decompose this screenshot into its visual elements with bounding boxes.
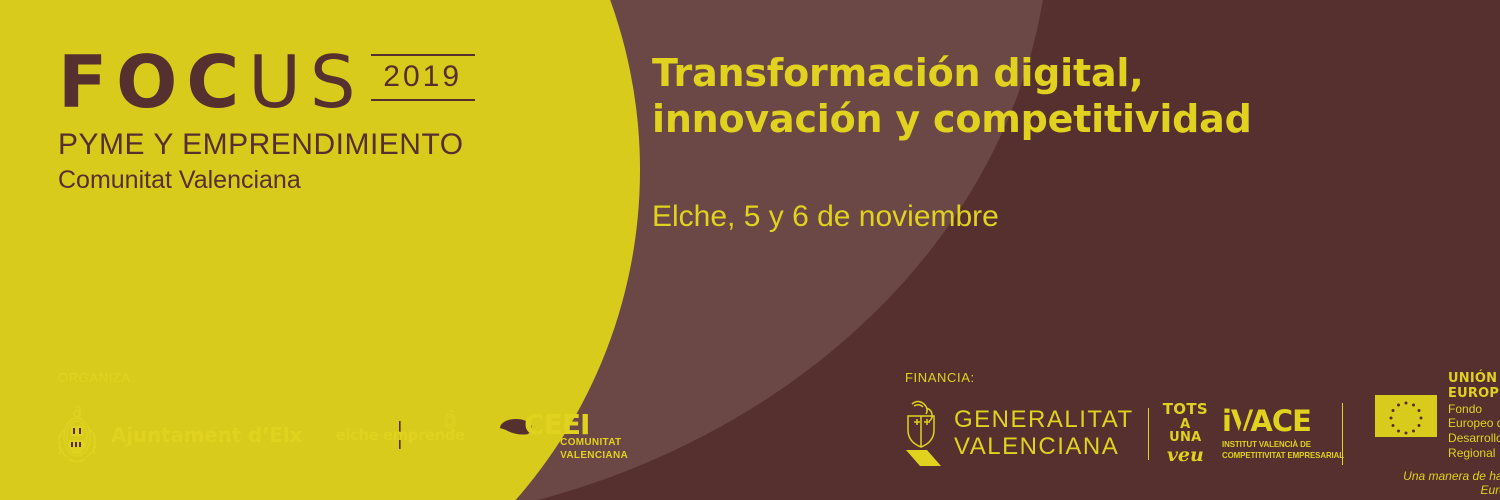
eu-subtitle-line-1: Fondo Europeo de: [1448, 402, 1500, 431]
ivace-subtitle-line-1: INSTITUT VALENCIÀ DE: [1222, 439, 1319, 450]
financia-logo-strip: GENERALITAT VALENCIANA TOTS A UNA veu iV…: [900, 398, 1500, 470]
organiza-logo-strip: Ajuntament d’Elx elche emprende: [55, 400, 626, 470]
tots-line-1: TOTS: [1163, 402, 1208, 418]
logo-wordmark-row: FOCUS 2019: [58, 48, 528, 116]
logo-year: 2019: [371, 56, 475, 99]
eu-text-block: UNIÓN EUROPEA Fondo Europeo de Desarroll…: [1448, 371, 1500, 461]
ajuntament-elx-logo: Ajuntament d’Elx: [55, 404, 302, 466]
eu-motto: Una manera de hacer Europa: [1375, 469, 1500, 497]
ceei-subtitle-line-2: VALENCIANA: [560, 450, 628, 463]
eu-subtitle-line-2: Desarrollo Regional: [1448, 431, 1500, 460]
ceei-subtitle-line-1: COMUNITAT: [560, 437, 628, 450]
eu-logo-row: UNIÓN EUROPEA Fondo Europeo de Desarroll…: [1375, 371, 1500, 461]
financia-label: FINANCIA:: [905, 370, 975, 385]
logo-subtitle-secondary: Comunitat Valenciana: [58, 165, 528, 195]
event-date-location: Elche, 5 y 6 de noviembre: [652, 200, 999, 234]
elx-crest-icon: [55, 404, 99, 466]
focus-pyme-logo: FOCUS 2019 PYME Y EMPRENDIMIENTO Comunit…: [58, 48, 528, 195]
event-headline: Transformación digital, innovación y com…: [652, 50, 1252, 143]
logo-wordmark: FOCUS: [58, 48, 365, 116]
ivace-wordmark-text: iVACE: [1222, 404, 1311, 438]
headline-line-2: innovación y competitividad: [652, 96, 1252, 142]
eu-flag-icon: [1375, 395, 1437, 437]
union-europea-logo: UNIÓN EUROPEA Fondo Europeo de Desarroll…: [1375, 371, 1500, 498]
ivace-logo: iVACE INSTITUT VALENCIÀ DE COMPETITIVITA…: [1222, 407, 1326, 461]
logo-subtitle-primary: PYME Y EMPRENDIMIENTO: [58, 128, 528, 163]
gva-wordmark: GENERALITAT VALENCIANA: [954, 407, 1134, 461]
ivace-subtitle: INSTITUT VALENCIÀ DE COMPETITIVITAT EMPR…: [1222, 439, 1319, 461]
logo-word-bold: FOC: [58, 40, 248, 124]
logo-word-thin: US: [248, 40, 364, 124]
elche-emprende-label: elche emprende: [332, 426, 468, 444]
organiza-label: ORGANIZA:: [58, 370, 135, 385]
ivace-wordmark: iVACE: [1222, 407, 1326, 436]
headline-line-1: Transformación digital,: [652, 50, 1252, 96]
ceei-logo: CEEI COMUNITAT VALENCIANA: [496, 404, 626, 466]
ivace-subtitle-line-2: COMPETITIVITAT EMPRESARIAL: [1222, 450, 1319, 461]
tots-line-2: A UNA: [1163, 418, 1208, 445]
tots-line-3: veu: [1163, 445, 1208, 466]
event-banner: FOCUS 2019 PYME Y EMPRENDIMIENTO Comunit…: [0, 0, 1500, 500]
elche-emprende-logo: elche emprende: [332, 399, 468, 471]
divider-gva-tots: [1148, 408, 1149, 460]
eu-stars-icon: [1375, 395, 1437, 437]
gva-line-2: VALENCIANA: [954, 434, 1134, 461]
logo-year-rule-bottom: [371, 99, 475, 101]
ceei-subtitle: COMUNITAT VALENCIANA: [560, 437, 628, 462]
eu-title: UNIÓN EUROPEA: [1448, 371, 1500, 402]
ajuntament-elx-label: Ajuntament d’Elx: [111, 423, 302, 447]
generalitat-valenciana-logo: GENERALITAT VALENCIANA: [900, 398, 1134, 470]
logo-year-block: 2019: [371, 54, 475, 101]
gva-line-1: GENERALITAT: [954, 407, 1134, 434]
tots-a-una-veu-logo: TOTS A UNA veu: [1163, 402, 1208, 466]
gva-crest-icon: [900, 398, 942, 470]
